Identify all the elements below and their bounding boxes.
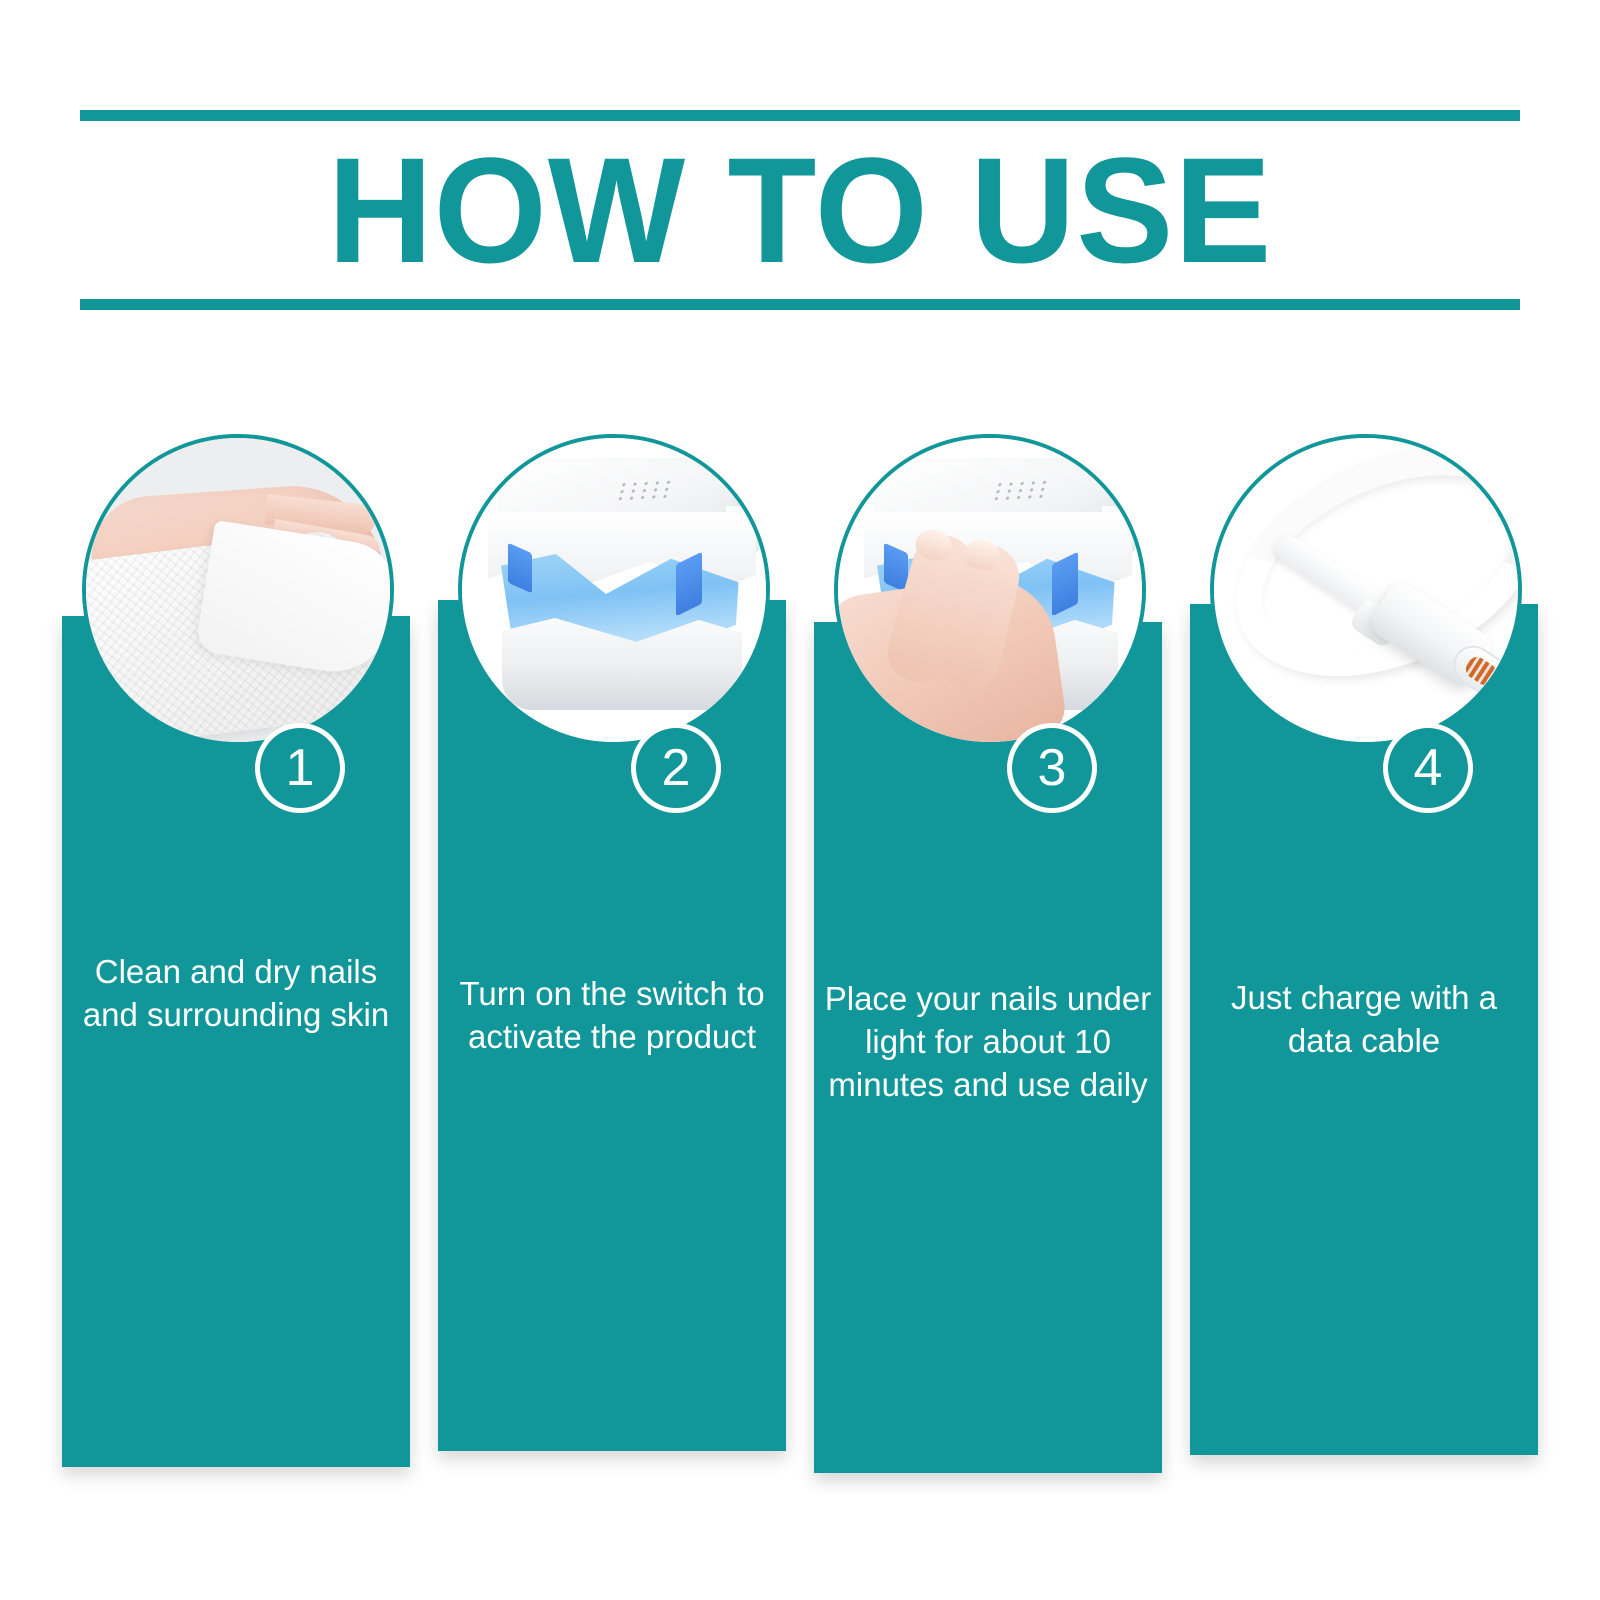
step-number-badge-4: 4 [1383, 723, 1473, 813]
step-caption-3: Place your nails under light for about 1… [822, 977, 1154, 1106]
step-number-badge-2: 2 [631, 723, 721, 813]
usb-c-charging-cable-photo [1214, 438, 1518, 742]
step-card-4: 4 Just charge with a data cable [1190, 0, 1538, 1600]
step-number-badge-3: 3 [1007, 723, 1097, 813]
step-card-2: 2 Turn on the switch to activate the pro… [438, 0, 786, 1600]
step-photo-4 [1210, 434, 1522, 746]
step-card-1: 1 Clean and dry nails and surrounding sk… [62, 0, 410, 1600]
lamp-vent-holes [990, 479, 1052, 504]
step-photo-2 [458, 434, 770, 746]
steps-container: 1 Clean and dry nails and surrounding sk… [0, 0, 1600, 1600]
step-photo-3 [834, 434, 1146, 746]
nail-lamp-device [478, 458, 764, 710]
lamp-vent-holes [614, 479, 676, 504]
fingers-under-uv-lamp-photo [838, 438, 1142, 742]
hand-wiping-with-towel-photo [86, 438, 390, 742]
uv-nail-lamp-glowing-photo [462, 438, 766, 742]
step-caption-4: Just charge with a data cable [1198, 976, 1530, 1062]
step-caption-1: Clean and dry nails and surrounding skin [70, 950, 402, 1036]
step-card-3: 3 Place your nails under light for about… [814, 0, 1162, 1600]
step-caption-2: Turn on the switch to activate the produ… [446, 972, 778, 1058]
step-photo-1 [82, 434, 394, 746]
step-number-badge-1: 1 [255, 723, 345, 813]
